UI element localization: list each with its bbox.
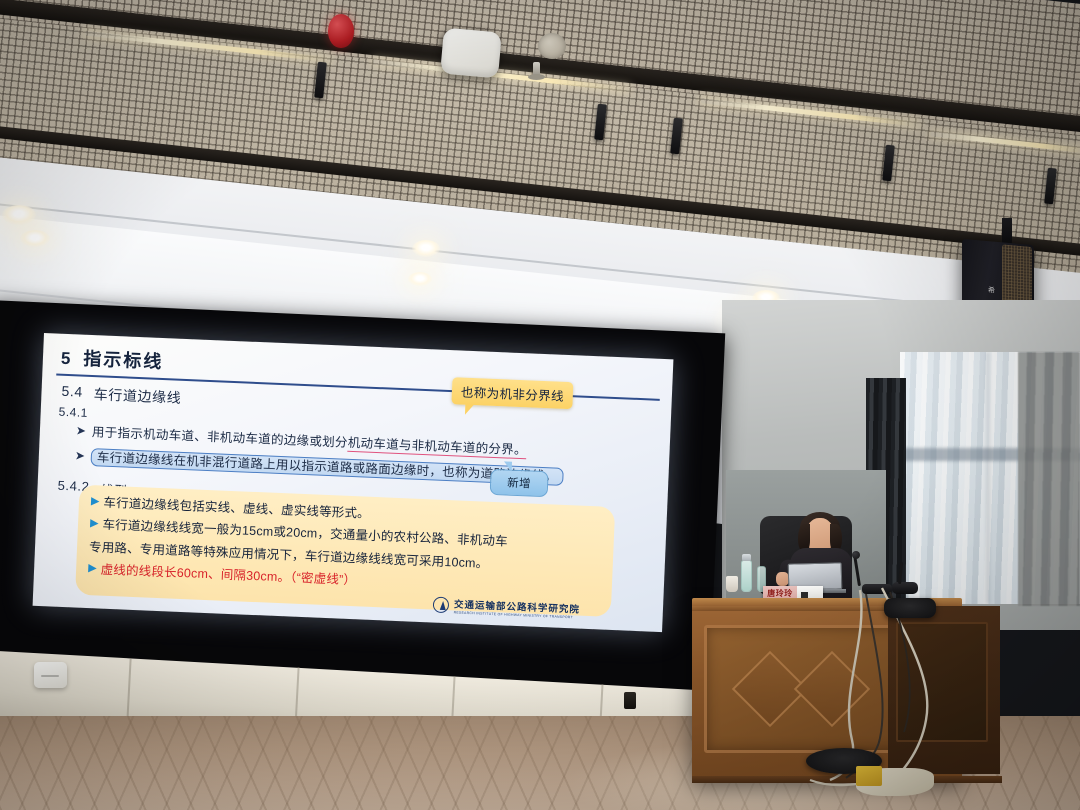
wall-control-box[interactable] [34,662,67,688]
bottle-cap [742,554,751,561]
wifi-access-point-icon [440,28,502,79]
red-dome-light-icon [328,14,354,48]
slide-title-number: 5 [61,349,71,369]
section-title: 车行道边缘线 [93,384,181,408]
institute-logo-mark-icon [433,597,450,614]
triangle-bullet-icon: ▶ [88,560,97,577]
bullet-1-underlined: 机动车道与非机动车道的分界。 [347,436,527,459]
section-number: 5.4 [61,383,83,404]
triangle-bullet-icon: ▶ [91,493,100,510]
cream-highlight-box: ▶ 车行道边缘线包括实线、虚线、虚实线等形式。 ▶ 车行道边缘线线宽一般为15c… [75,485,615,617]
slide-title-text: 指示标线 [83,345,164,374]
triangle-bullet-icon: ▶ [90,515,99,532]
callout-yellow: 也称为机非分界线 [451,377,573,409]
ceiling-vent-icon [538,33,566,59]
callout-blue-new: 新增 [490,469,549,497]
recessed-downlight [20,230,50,247]
microphone-head-icon [852,551,860,559]
arrow-bullet-icon: ➤ [76,422,87,440]
recessed-downlight [408,272,432,286]
cable-white-2 [882,588,927,788]
arrow-bullet-icon: ➤ [75,447,86,465]
speaker-brand-mark: 希 [988,287,996,296]
recessed-downlight [2,205,36,225]
sprinkler-head-icon [533,62,540,79]
conference-room-photo: 希 5 指示标线 5.4 车行道边缘线 5.4.1 ➤ 用于指示机动车道、非机动… [0,0,1080,810]
recessed-downlight [412,240,440,257]
projected-slide: 5 指示标线 5.4 车行道边缘线 5.4.1 ➤ 用于指示机动车道、非机动车道… [33,333,674,632]
window-mullion-vertical [986,352,990,604]
cable-connector-block [884,598,936,618]
wall-outlet[interactable] [624,692,636,709]
floor-tape [856,766,882,786]
curtain-panel-grey [1018,352,1080,606]
